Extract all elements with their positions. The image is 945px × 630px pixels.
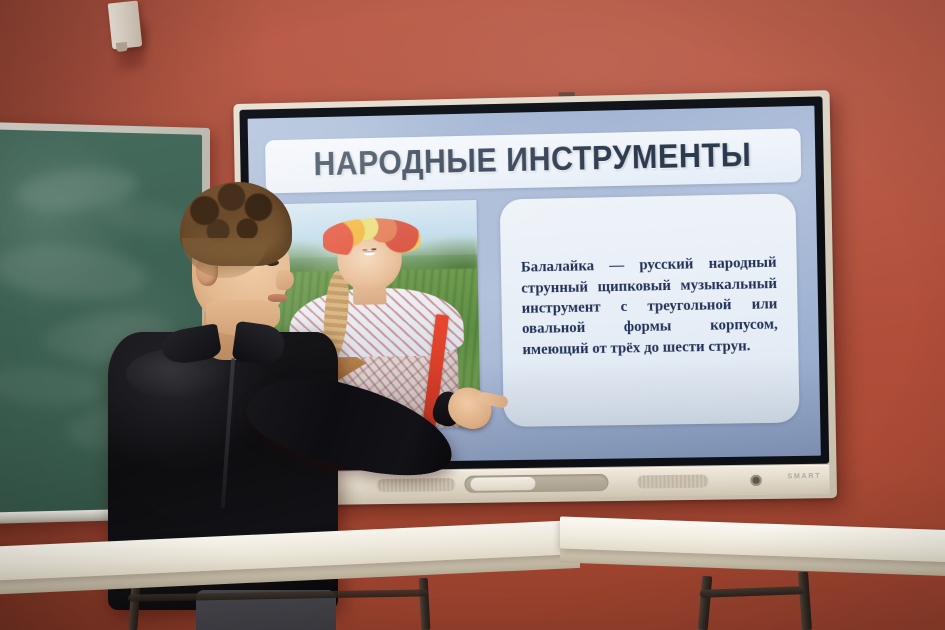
table-right — [560, 524, 945, 630]
chalk-smudge — [0, 362, 101, 411]
stylus-tray[interactable] — [464, 474, 608, 493]
slide-body-text: Балалайка — русский народный струнный щи… — [521, 253, 779, 361]
table-left — [0, 534, 580, 630]
presenter-nose — [276, 270, 294, 290]
classroom-scene: НАРОДНЫЕ ИНСТРУМЕНТЫ — [0, 0, 945, 630]
stylus-pen[interactable] — [470, 477, 535, 491]
presenter-lips — [268, 294, 288, 302]
top-bezel-marking — [559, 92, 575, 96]
motion-sensor-icon — [108, 1, 143, 50]
display-brand-label: SMART — [787, 473, 821, 481]
speaker-grille-right — [637, 474, 709, 488]
slide-title: НАРОДНЫЕ ИНСТРУМЕНТЫ — [313, 137, 751, 185]
power-button-icon[interactable] — [750, 475, 761, 486]
slide-textbox: Балалайка — русский народный струнный щи… — [499, 194, 800, 428]
